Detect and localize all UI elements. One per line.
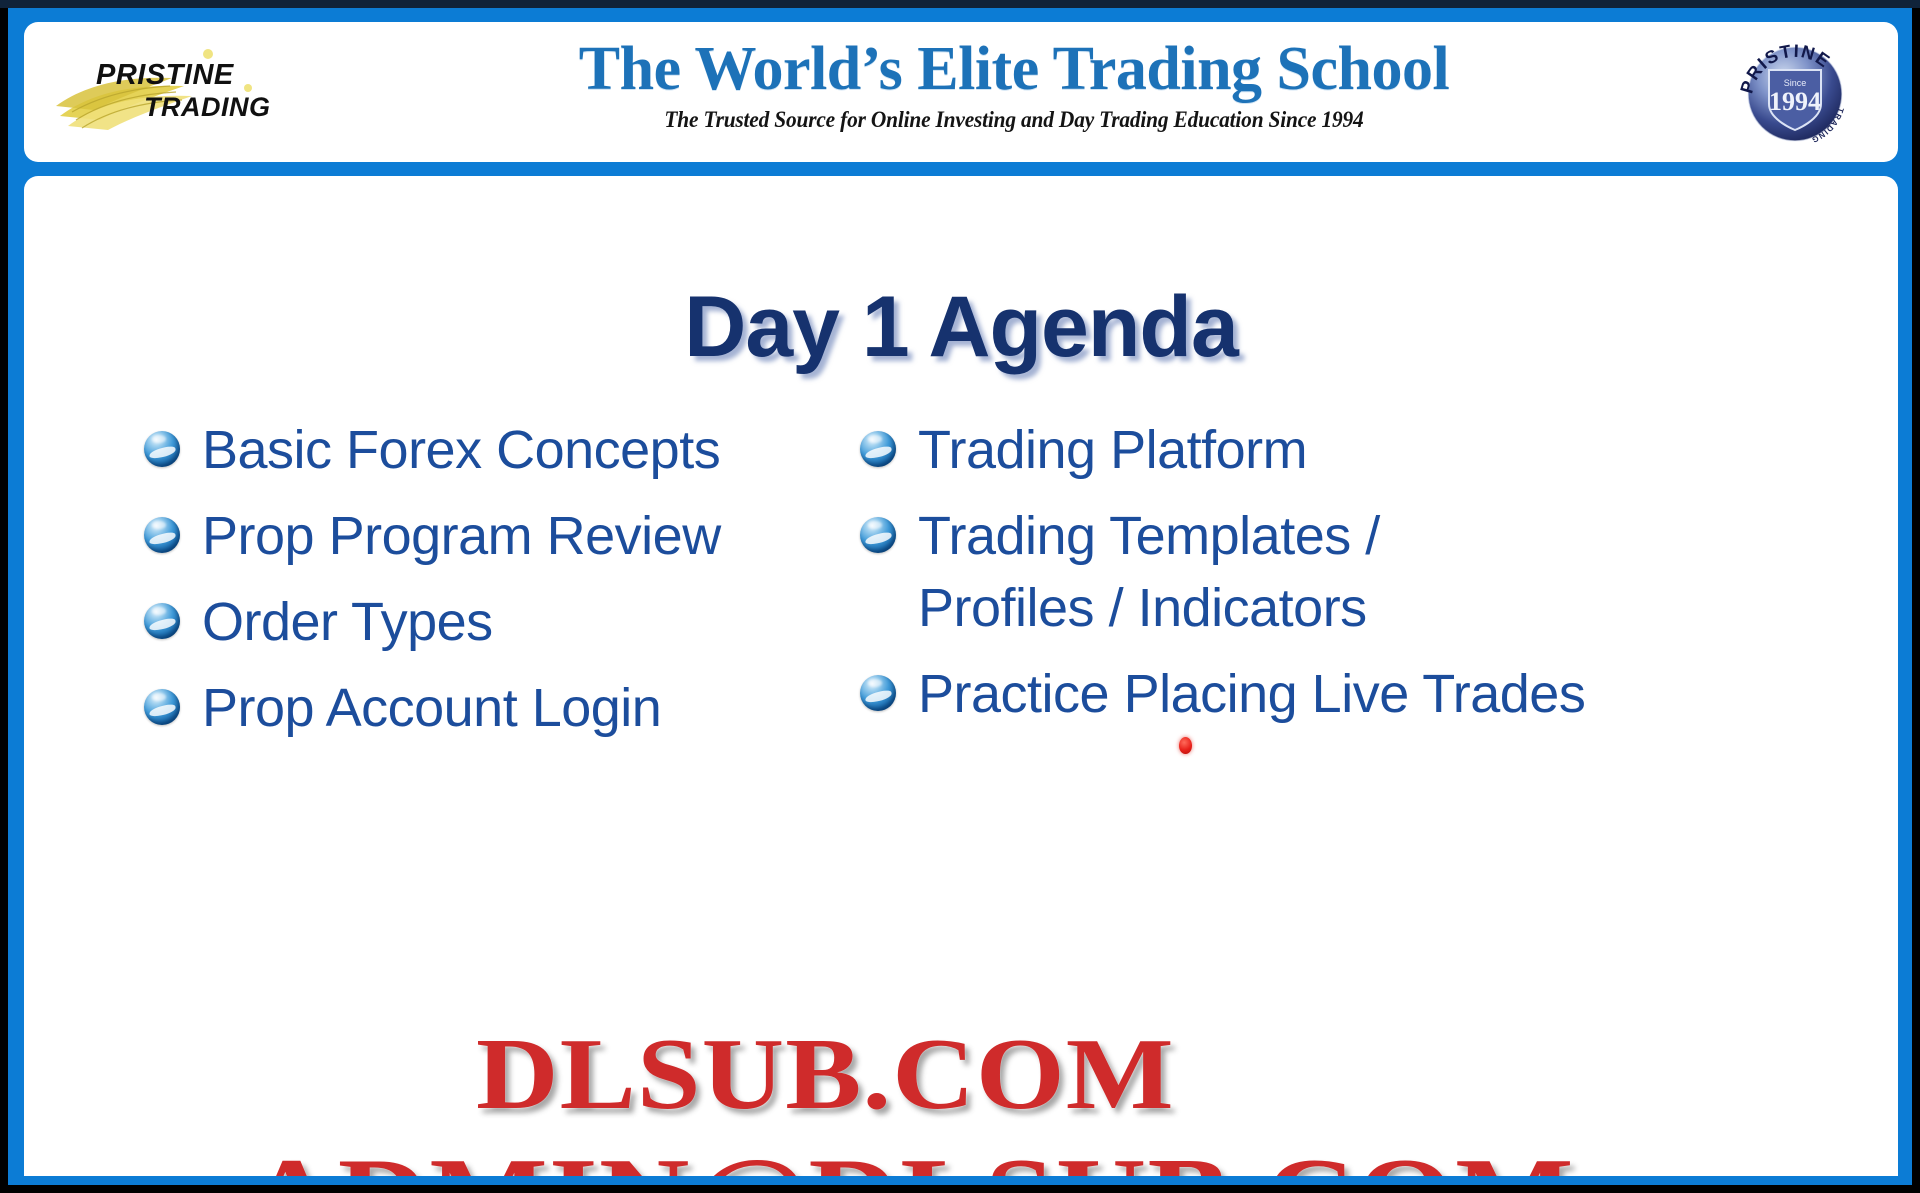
slide-canvas: PRISTINE TRADING The World’s Elite Tradi… (0, 0, 1920, 1193)
list-item: Order Types (144, 586, 814, 658)
left-column: Basic Forex Concepts Prop Program Review… (24, 414, 814, 758)
list-item-label: Trading Platform (918, 414, 1307, 486)
list-item-label: Practice Placing Live Trades (918, 658, 1585, 730)
list-item: Prop Account Login (144, 672, 814, 744)
list-item: Trading Templates / Profiles / Indicator… (860, 500, 1814, 644)
header-panel: PRISTINE TRADING The World’s Elite Tradi… (24, 22, 1898, 162)
list-item-label: Prop Program Review (202, 500, 721, 572)
list-item-label: Trading Templates / Profiles / Indicator… (918, 500, 1380, 644)
header-subtitle: The Trusted Source for Online Investing … (400, 106, 1628, 134)
list-item: Practice Placing Live Trades (860, 658, 1814, 730)
page-title: Day 1 Agenda (24, 278, 1898, 376)
watermark-site: DLSUB.COM (476, 1024, 1175, 1126)
globe-bullet-icon (144, 603, 180, 639)
svg-text:1994: 1994 (1769, 87, 1821, 116)
header-text-block: The World’s Elite Trading School The Tru… (354, 32, 1674, 134)
list-item-label: Order Types (202, 586, 493, 658)
pristine-trading-logo: PRISTINE TRADING (52, 40, 332, 144)
laser-pointer-dot (1179, 737, 1192, 754)
svg-text:PRISTINE: PRISTINE (96, 59, 235, 91)
globe-bullet-icon (144, 689, 180, 725)
header-title: The World’s Elite Trading School (354, 32, 1674, 106)
globe-bullet-icon (144, 431, 180, 467)
globe-bullet-icon (860, 431, 896, 467)
top-dark-band (0, 0, 1920, 8)
globe-bullet-icon (144, 517, 180, 553)
pristine-since-1994-seal: PRISTINE Since 1994 TRADING (1736, 34, 1854, 150)
list-item: Basic Forex Concepts (144, 414, 814, 486)
list-item-label: Prop Account Login (202, 672, 661, 744)
list-item-label: Basic Forex Concepts (202, 414, 720, 486)
globe-bullet-icon (860, 517, 896, 553)
right-column: Trading Platform Trading Templates / Pro… (814, 414, 1814, 744)
slide-body-panel: Day 1 Agenda Basic Forex Concepts Prop P… (24, 176, 1898, 1176)
globe-bullet-icon (860, 675, 896, 711)
svg-text:TRADING: TRADING (144, 92, 271, 122)
agenda-columns: Basic Forex Concepts Prop Program Review… (24, 414, 1898, 758)
watermark-email: ADMIN@DLSUB.COM (246, 1142, 1575, 1176)
list-item: Trading Platform (860, 414, 1814, 486)
list-item: Prop Program Review (144, 500, 814, 572)
